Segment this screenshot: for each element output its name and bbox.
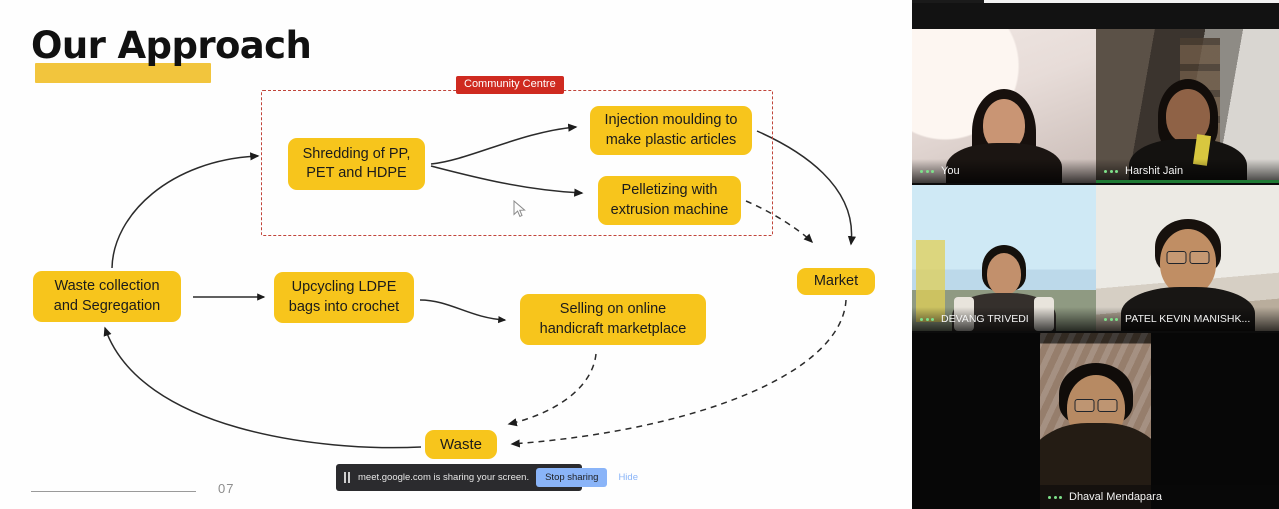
more-options-icon[interactable] (920, 318, 934, 321)
footer-rule (31, 491, 196, 492)
pause-icon (343, 472, 351, 483)
strip-dark-band (912, 3, 1279, 29)
participant-tile-harshit-jain[interactable]: Harshit Jain (1096, 29, 1279, 183)
more-options-icon[interactable] (920, 170, 934, 173)
participant-name: You (941, 165, 960, 177)
node-market: Market (797, 268, 875, 295)
participant-name: DEVANG TRIVEDI (941, 313, 1029, 325)
participant-namebar: You (912, 159, 1096, 183)
participant-tile-devang-trivedi[interactable]: DEVANG TRIVEDI (912, 185, 1096, 331)
node-waste: Waste (425, 430, 497, 459)
more-options-icon[interactable] (1048, 496, 1062, 499)
participant-tile-patel-kevin[interactable]: PATEL KEVIN MANISHK... (1096, 185, 1279, 331)
more-options-icon[interactable] (1104, 170, 1118, 173)
participant-namebar: DEVANG TRIVEDI (912, 307, 1096, 331)
participant-namebar: Dhaval Mendapara (1040, 485, 1279, 509)
hide-bar-button[interactable]: Hide (614, 470, 642, 485)
active-speaker-indicator (1096, 180, 1279, 183)
page-title-text: Our Approach (31, 27, 311, 64)
participant-namebar: PATEL KEVIN MANISHK... (1096, 307, 1279, 331)
participant-name: PATEL KEVIN MANISHK... (1125, 313, 1250, 325)
page-number: 07 (218, 481, 234, 496)
stop-sharing-button[interactable]: Stop sharing (536, 468, 607, 487)
node-injection-moulding: Injection moulding to make plastic artic… (590, 106, 752, 155)
meeting-screen-share-view: Our Approach Community Centre Shredding … (0, 0, 1279, 509)
more-options-icon[interactable] (1104, 318, 1118, 321)
participant-tile-dhaval-mendapara[interactable]: Dhaval Mendapara (912, 333, 1279, 509)
node-pelletizing: Pelletizing with extrusion machine (598, 176, 741, 225)
participant-name: Dhaval Mendapara (1069, 491, 1162, 503)
eyeglasses (1166, 251, 1209, 264)
letterbox-right (1151, 333, 1279, 509)
letterbox-left (912, 333, 1040, 509)
mouse-cursor-icon (513, 200, 527, 218)
participant-tile-you[interactable]: You (912, 29, 1096, 183)
node-upcycling-ldpe: Upcycling LDPE bags into crochet (274, 272, 414, 323)
shared-slide-content: Our Approach Community Centre Shredding … (0, 0, 912, 509)
share-message: meet.google.com is sharing your screen. (358, 472, 529, 483)
participant-name: Harshit Jain (1125, 165, 1183, 177)
community-centre-label: Community Centre (456, 76, 564, 94)
node-shredding: Shredding of PP, PET and HDPE (288, 138, 425, 190)
node-waste-collection: Waste collection and Segregation (33, 271, 181, 322)
participant-strip: You Harshit Jain (912, 0, 1279, 509)
eyeglasses (1074, 399, 1117, 412)
screen-share-notification-bar[interactable]: meet.google.com is sharing your screen. … (336, 464, 582, 491)
page-title: Our Approach (31, 27, 311, 64)
video-feed (912, 333, 1279, 509)
node-selling-online: Selling on online handicraft marketplace (520, 294, 706, 345)
